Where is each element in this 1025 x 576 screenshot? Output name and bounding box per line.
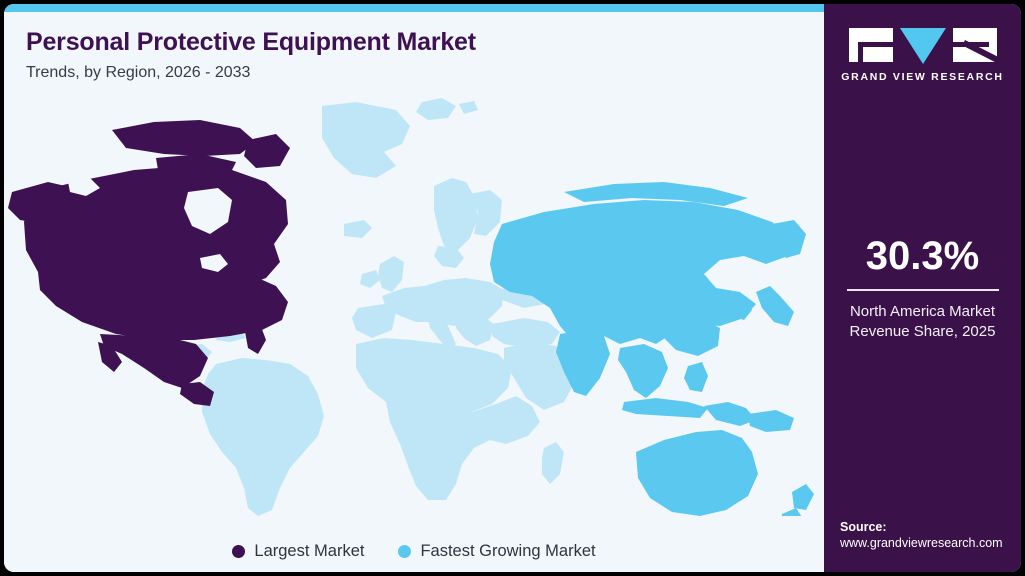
legend: Largest Market Fastest Growing Market <box>4 534 824 568</box>
accent-stripe <box>4 4 824 12</box>
world-map-svg <box>4 96 824 516</box>
legend-item-largest-market: Largest Market <box>232 542 364 561</box>
gvr-logo: GRAND VIEW RESEARCH <box>849 28 997 83</box>
world-map <box>4 96 824 516</box>
source-block: Source: www.grandviewresearch.com <box>840 520 1015 550</box>
divider <box>847 289 999 291</box>
stat-label-line2: Revenue Share, 2025 <box>834 322 1011 342</box>
page-subtitle: Trends, by Region, 2026 - 2033 <box>26 64 806 82</box>
v-triangle-icon <box>900 28 946 64</box>
header: Personal Protective Equipment Market Tre… <box>26 28 806 82</box>
map-panel: Personal Protective Equipment Market Tre… <box>4 4 824 572</box>
brand-panel: GRAND VIEW RESEARCH 30.3% North America … <box>824 4 1021 572</box>
stat-block: 30.3% North America Market Revenue Share… <box>824 236 1021 343</box>
infographic-card: Personal Protective Equipment Market Tre… <box>4 4 1021 572</box>
source-title: Source: <box>840 520 1015 534</box>
g-mark-icon <box>849 28 893 62</box>
logo-marks <box>849 28 997 64</box>
logo-wordmark: GRAND VIEW RESEARCH <box>841 71 1003 83</box>
page-title: Personal Protective Equipment Market <box>26 28 806 57</box>
stat-value: 30.3% <box>834 236 1011 276</box>
source-url[interactable]: www.grandviewresearch.com <box>840 536 1015 550</box>
legend-label: Fastest Growing Market <box>420 542 595 561</box>
legend-label: Largest Market <box>254 542 364 561</box>
stat-label-line1: North America Market <box>834 302 1011 322</box>
dot-icon <box>232 545 245 558</box>
dot-icon <box>398 545 411 558</box>
legend-item-fastest-growing-market: Fastest Growing Market <box>398 542 595 561</box>
r-mark-icon <box>953 28 997 62</box>
